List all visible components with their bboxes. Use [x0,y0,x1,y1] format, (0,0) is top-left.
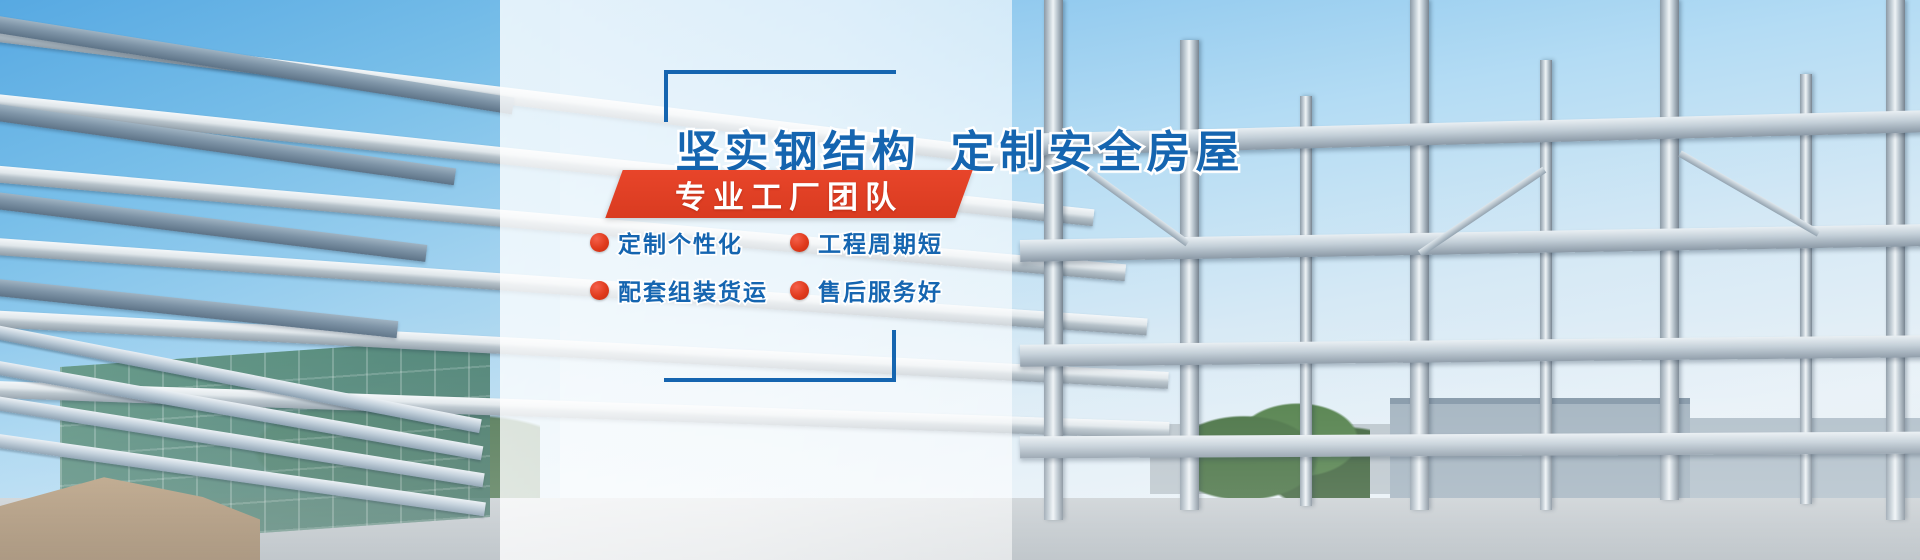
bullet-dot-icon [790,281,809,300]
feature-item: 配套组装货运 [590,273,790,307]
bullet-dot-icon [590,281,609,300]
ribbon-label: 专业工厂团队 [614,170,964,218]
feature-label: 工程周期短 [818,225,943,259]
feature-list: 定制个性化 工程周期短 配套组装货运 售后服务好 [590,225,1000,307]
feature-item: 售后服务好 [790,273,990,307]
hero-banner: 坚实钢结构定制安全房屋 专业工厂团队 定制个性化 工程周期短 配套组装货运 售后… [0,0,1920,560]
banner-content: 坚实钢结构定制安全房屋 专业工厂团队 定制个性化 工程周期短 配套组装货运 售后… [0,0,1920,560]
corner-bracket-top-left [664,70,896,122]
feature-label: 配套组装货运 [618,273,768,307]
feature-item: 工程周期短 [790,225,990,259]
feature-label: 定制个性化 [618,225,743,259]
feature-label: 售后服务好 [818,273,943,307]
bullet-dot-icon [790,233,809,252]
feature-item: 定制个性化 [590,225,790,259]
bullet-dot-icon [590,233,609,252]
headline-part-2: 定制安全房屋 [951,128,1245,177]
corner-bracket-bottom-right [664,330,896,382]
